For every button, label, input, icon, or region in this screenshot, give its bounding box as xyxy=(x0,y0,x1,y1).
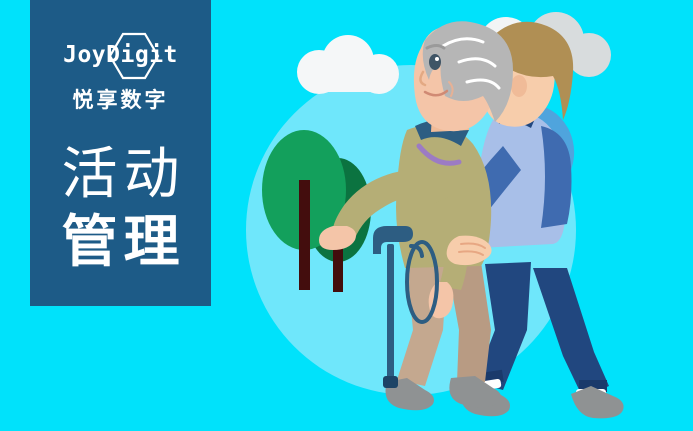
poster-canvas: JoyDigit 悦享数字 活动 管理 xyxy=(0,0,693,431)
page-title-line-1: 活动 xyxy=(30,140,211,208)
page-title-line-2: 管理 xyxy=(30,208,211,276)
young-man-back-leg xyxy=(533,268,609,398)
logo-mark: JoyDigit xyxy=(30,30,211,82)
illustration-scene xyxy=(211,0,693,431)
page-title: 活动 管理 xyxy=(30,140,211,276)
logo-wordmark: JoyDigit xyxy=(30,42,211,68)
logo-chinese-name: 悦享数字 xyxy=(30,88,211,114)
cloud-left xyxy=(297,35,399,94)
brand-panel: JoyDigit 悦享数字 活动 管理 xyxy=(30,0,211,306)
elderly-woman-eye xyxy=(429,54,441,70)
young-man-back-shoe xyxy=(571,386,624,418)
logo-block: JoyDigit 悦享数字 xyxy=(30,30,211,114)
young-man-ear xyxy=(511,75,527,97)
